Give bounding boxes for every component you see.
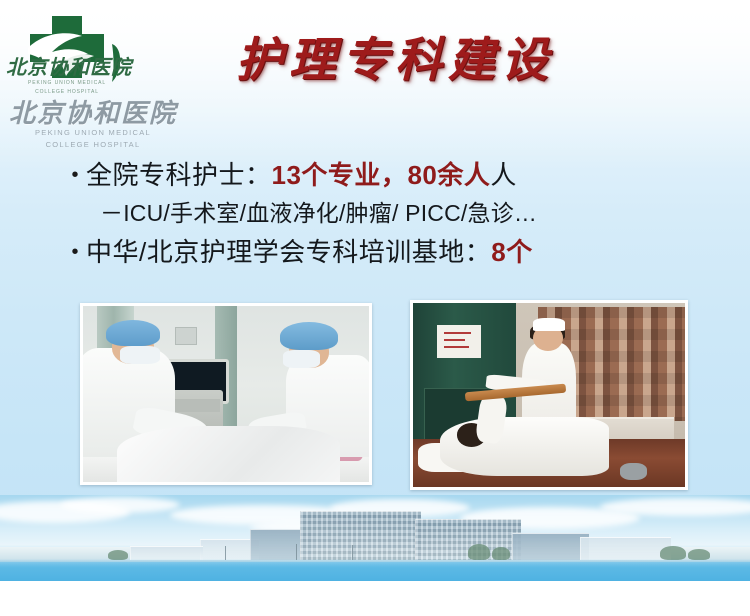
bed-sheet [117,426,340,482]
bullet-marker: • [64,235,86,269]
building-block [512,533,589,560]
building-block [580,537,671,560]
bullet-1-highlight-1: 13个专业， [272,160,408,190]
bullet-2-plain: 中华/北京护理学会专科培训基地： [86,237,491,267]
bullet-item-1-text: 全院专科护士：13个专业，80余人人 [86,158,517,192]
wall-switch [175,327,197,345]
bullet-item-2: • 中华/北京护理学会专科培训基地：8个 [64,235,704,269]
wordmark-chinese: 北京协和医院 [8,100,178,127]
slide-title: 护理专科建设 [215,36,575,88]
wordmark-english-line1: PEKING UNION MEDICAL [8,128,178,139]
bullet-2-highlight-1: 8个 [491,237,532,267]
sub-bullet-text: －ICU/手术室/血液净化/肿瘤/ PICC/急诊… [100,197,704,229]
patient-sock [620,463,647,480]
bullet-item-2-text: 中华/北京护理学会专科培训基地：8个 [86,235,533,269]
bullet-marker: • [64,158,86,192]
bullet-1-plain: 全院专科护士： [86,160,272,190]
notice-text-line [444,346,469,348]
nurse-left-face-mask [120,346,160,364]
logo-english-name-line1: PEKING UNION MEDICAL [6,80,128,87]
nurse-left-surgical-cap [106,320,160,346]
logo-english-name-line2: COLLEGE HOSPITAL [6,89,128,96]
logo-wordmark-top: 北京协和医院 PEKING UNION MEDICAL COLLEGE HOSP… [6,58,128,100]
nurse-cap [533,318,566,331]
notice-text-line [444,332,472,334]
photo-nurses-ultrasound [80,303,372,485]
logo-chinese-name: 北京协和医院 [6,58,128,78]
bottom-white-margin [0,581,750,616]
hospital-wordmark: 北京协和医院 PEKING UNION MEDICAL COLLEGE HOSP… [8,100,178,151]
notice-text-line [444,339,466,341]
cloud [60,497,180,513]
building-tower-main [300,511,421,560]
photo-nurse-rehabilitation-content [413,303,685,487]
slide: 北京协和医院 PEKING UNION MEDICAL COLLEGE HOSP… [0,0,750,616]
hospital-building-panorama [0,495,750,581]
wordmark-english-line2: COLLEGE HOSPITAL [8,140,178,151]
photo-nurses-ultrasound-content [83,306,369,482]
nurse-right-face-mask [283,350,320,368]
bullet-item-1: • 全院专科护士：13个专业，80余人人 [64,158,704,192]
bullet-1-highlight-2: 80余人 [407,160,490,190]
foreground-water [0,559,750,581]
door-notice-sign [437,325,481,358]
photo-nurse-rehabilitation [410,300,688,490]
sub-bullet-item: －ICU/手术室/血液净化/肿瘤/ PICC/急诊… [100,197,704,229]
slide-body: • 全院专科护士：13个专业，80余人人 －ICU/手术室/血液净化/肿瘤/ P… [64,158,704,274]
nurse-right-surgical-cap [280,322,337,350]
